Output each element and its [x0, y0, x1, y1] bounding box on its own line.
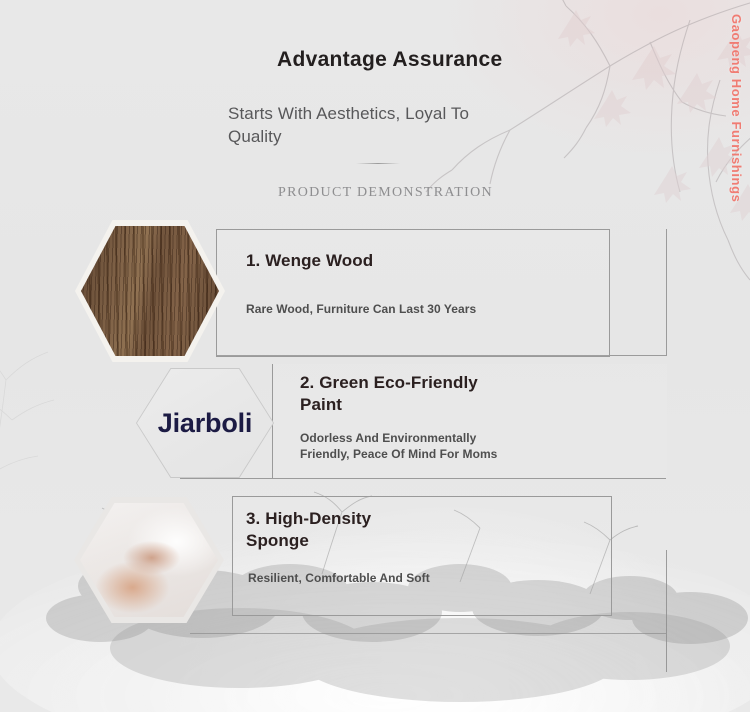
- card-2-description: Odorless And Environmentally Friendly, P…: [300, 431, 510, 463]
- connector-line-3: [190, 633, 666, 634]
- section-eyebrow: PRODUCT DEMONSTRATION: [278, 185, 493, 201]
- card-2-heading: 2. Green Eco-Friendly Paint: [300, 372, 515, 416]
- card-3-description: Resilient, Comfortable And Soft: [248, 571, 578, 587]
- vertical-brand-text: Gaopeng Home Furnishings: [729, 14, 744, 202]
- card-1-box: [216, 229, 610, 357]
- header-divider: [356, 163, 400, 164]
- page-subtitle: Starts With Aesthetics, Loyal To Quality: [228, 103, 503, 149]
- card-3-heading: 3. High-Density Sponge: [246, 508, 436, 552]
- card-1-description: Rare Wood, Furniture Can Last 30 Years: [246, 302, 586, 318]
- page-title: Advantage Assurance: [277, 48, 503, 72]
- card-1-heading: 1. Wenge Wood: [246, 250, 576, 272]
- card-1-watermark: [318, 318, 324, 330]
- connector-line-2-vertical: [666, 550, 667, 672]
- product-advantage-page: Gaopeng Home Furnishings Advantage Assur…: [0, 0, 750, 712]
- connector-line-1-vertical: [666, 229, 667, 356]
- connector-line-2: [180, 478, 666, 479]
- jiarboli-logo-text: Jiarboli: [136, 368, 274, 478]
